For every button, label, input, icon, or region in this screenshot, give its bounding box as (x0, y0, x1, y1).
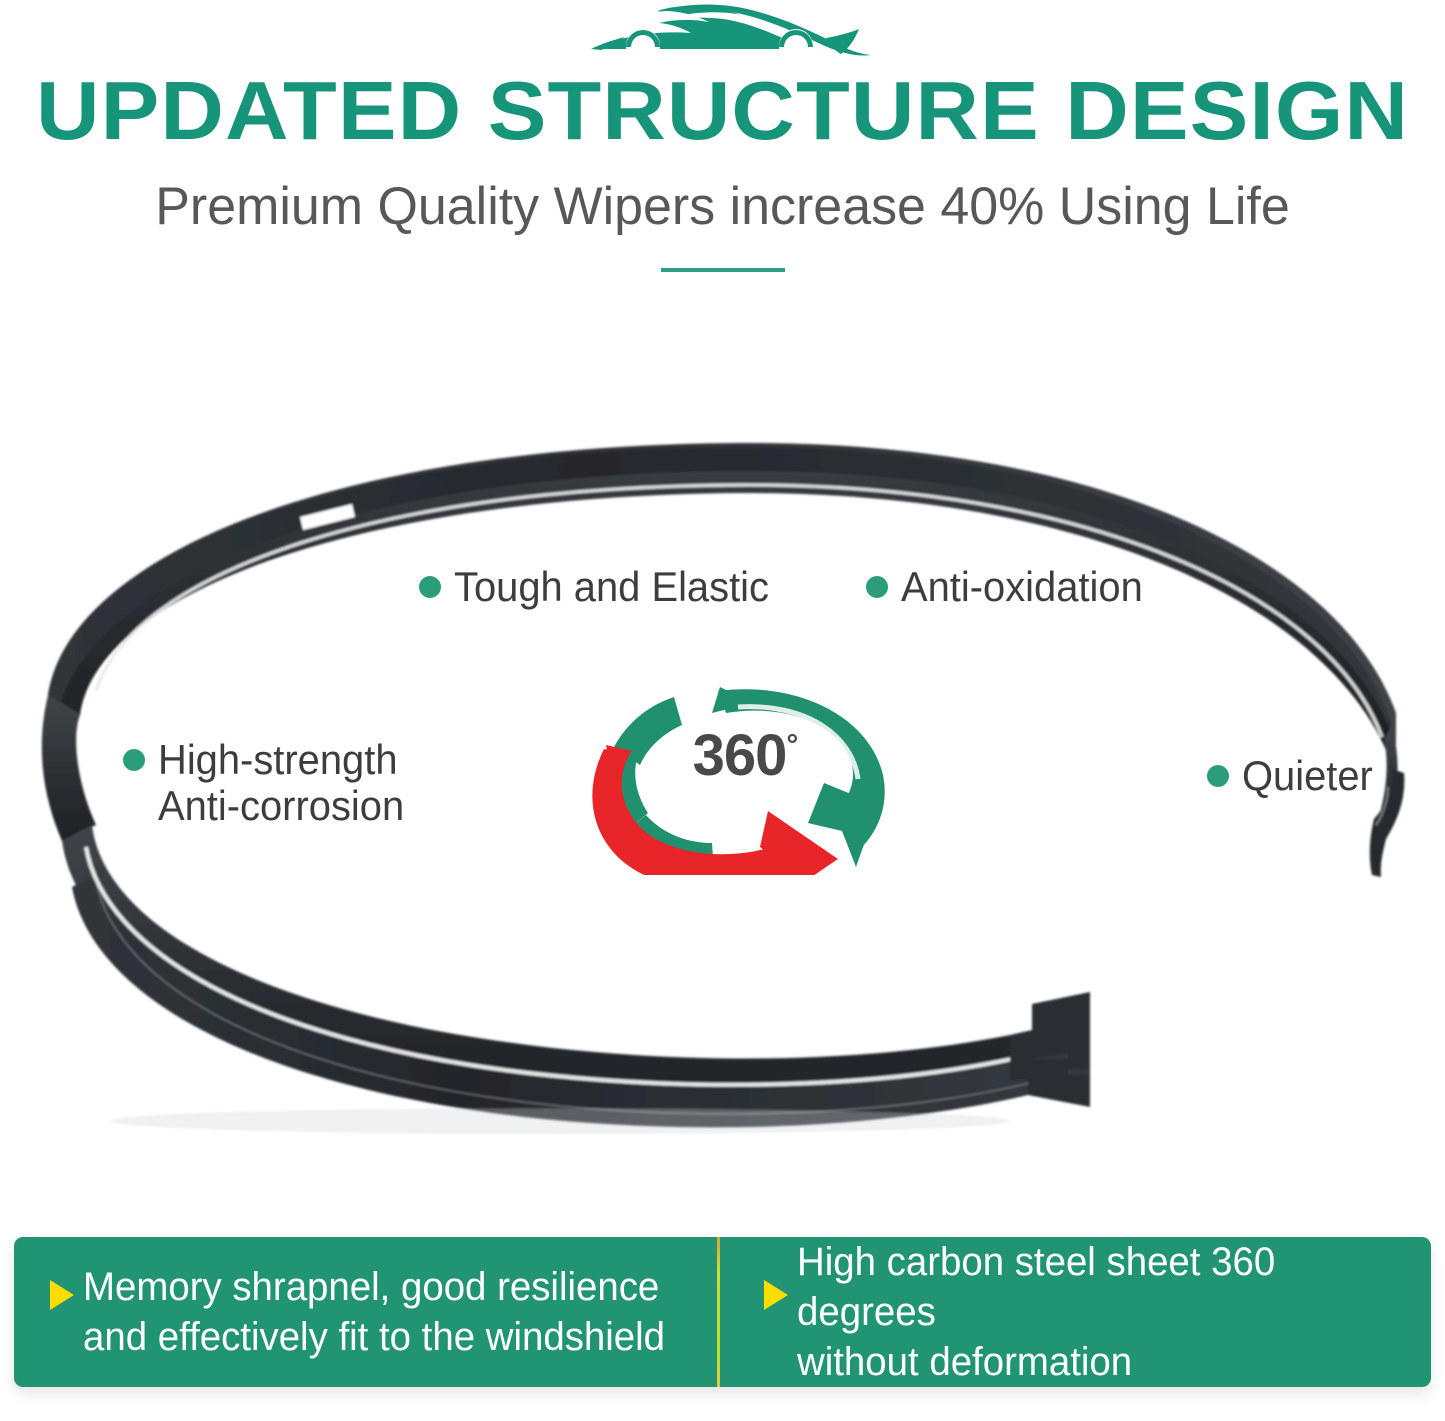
infographic-canvas: UPDATED STRUCTURE DESIGN Premium Quality… (0, 0, 1445, 1421)
banner-panel-memory-shrapnel: Memory shrapnel, good resilience and eff… (14, 1237, 717, 1387)
bullet-dot-icon (123, 749, 145, 771)
degree-symbol: ° (786, 729, 797, 762)
sports-car-silhouette-icon (583, 2, 883, 60)
yellow-triangle-bullet-icon (764, 1280, 788, 1310)
bottom-benefits-banner: Memory shrapnel, good resilience and eff… (14, 1237, 1431, 1387)
feature-tough-and-elastic: Tough and Elastic (419, 564, 786, 610)
page-subtitle: Premium Quality Wipers increase 40% Usin… (14, 176, 1430, 238)
feature-label: Tough and Elastic (454, 564, 769, 610)
feature-label: Anti-oxidation (901, 564, 1143, 610)
feature-label: High-strength Anti-corrosion (158, 737, 404, 829)
feature-anti-oxidation: Anti-oxidation (866, 564, 1155, 610)
title-underline-rule (661, 268, 785, 272)
feature-label: Quieter (1242, 753, 1373, 799)
360-degree-badge: 360° (570, 655, 920, 875)
banner-panel-high-carbon-steel: High carbon steel sheet 360 degrees with… (720, 1237, 1431, 1387)
bullet-dot-icon (866, 576, 888, 598)
banner-panel-text: Memory shrapnel, good resilience and eff… (83, 1262, 665, 1362)
banner-panel-text: High carbon steel sheet 360 degrees with… (797, 1237, 1406, 1387)
badge-number: 360 (693, 723, 787, 788)
feature-quieter: Quieter (1207, 753, 1380, 799)
yellow-triangle-bullet-icon (50, 1280, 74, 1310)
bullet-dot-icon (1207, 765, 1229, 787)
page-title: UPDATED STRUCTURE DESIGN (0, 62, 1445, 160)
bullet-dot-icon (419, 576, 441, 598)
feature-high-strength-anti-corrosion: High-strength Anti-corrosion (123, 737, 417, 829)
badge-value: 360° (570, 724, 920, 788)
